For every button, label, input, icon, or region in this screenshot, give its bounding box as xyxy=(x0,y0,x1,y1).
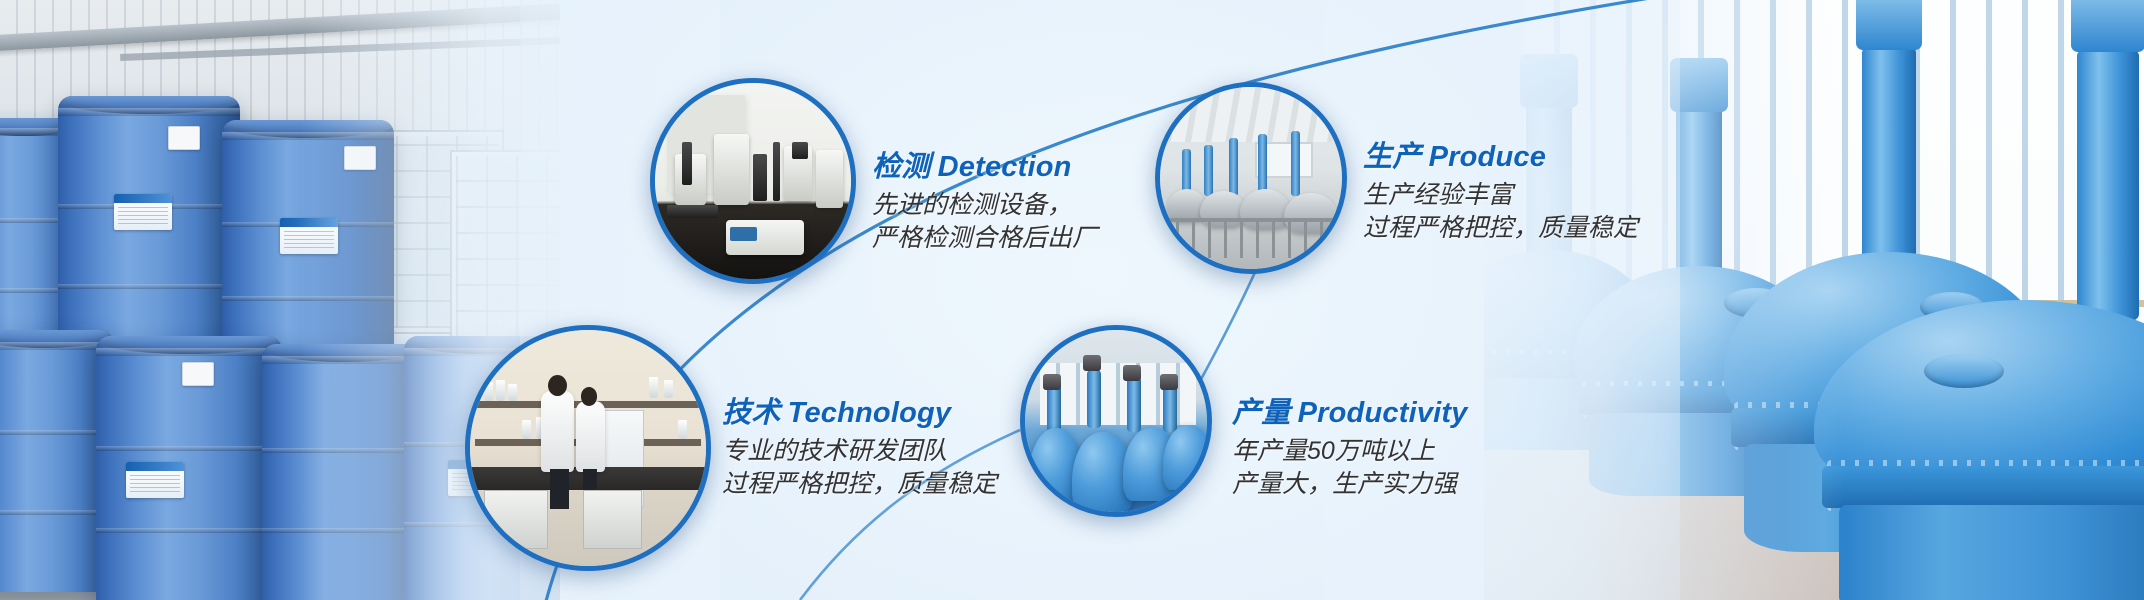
technology-line-2: 过程严格把控，质量稳定 xyxy=(722,468,997,501)
productivity-title-cn: 产量 xyxy=(1232,397,1291,429)
feature-text-productivity: 产量Productivity 年产量50万吨以上 产量大，生产实力强 xyxy=(1232,396,1468,501)
productivity-line-1: 年产量50万吨以上 xyxy=(1232,435,1468,468)
productivity-heading: 产量Productivity xyxy=(1232,396,1468,430)
productivity-photo-bubble[interactable] xyxy=(1020,325,1212,517)
company-strengths-banner: 检测Detection 先进的检测设备， 严格检测合格后出厂 生产Produce… xyxy=(0,0,2144,600)
produce-line-1: 生产经验丰富 xyxy=(1363,179,1638,212)
detection-title-cn: 检测 xyxy=(872,151,931,183)
productivity-line-2: 产量大，生产实力强 xyxy=(1232,468,1468,501)
produce-title-en: Produce xyxy=(1429,141,1546,173)
technology-title-cn: 技术 xyxy=(722,397,781,429)
detection-heading: 检测Detection xyxy=(872,150,1097,184)
technology-title-en: Technology xyxy=(788,397,952,429)
productivity-title-en: Productivity xyxy=(1298,397,1468,429)
feature-text-technology: 技术Technology 专业的技术研发团队 过程严格把控，质量稳定 xyxy=(722,396,997,501)
produce-title-cn: 生产 xyxy=(1363,141,1422,173)
detection-photo-bubble[interactable] xyxy=(650,78,856,284)
detection-line-1: 先进的检测设备， xyxy=(872,189,1097,222)
detection-title-en: Detection xyxy=(938,151,1072,183)
feature-text-produce: 生产Produce 生产经验丰富 过程严格把控，质量稳定 xyxy=(1363,140,1638,245)
technology-photo-bubble[interactable] xyxy=(465,325,711,571)
technology-line-1: 专业的技术研发团队 xyxy=(722,435,997,468)
detection-line-2: 严格检测合格后出厂 xyxy=(872,222,1097,255)
feature-text-detection: 检测Detection 先进的检测设备， 严格检测合格后出厂 xyxy=(872,150,1097,255)
technology-heading: 技术Technology xyxy=(722,396,997,430)
produce-photo-bubble[interactable] xyxy=(1155,82,1347,274)
produce-heading: 生产Produce xyxy=(1363,140,1638,174)
produce-line-2: 过程严格把控，质量稳定 xyxy=(1363,212,1638,245)
